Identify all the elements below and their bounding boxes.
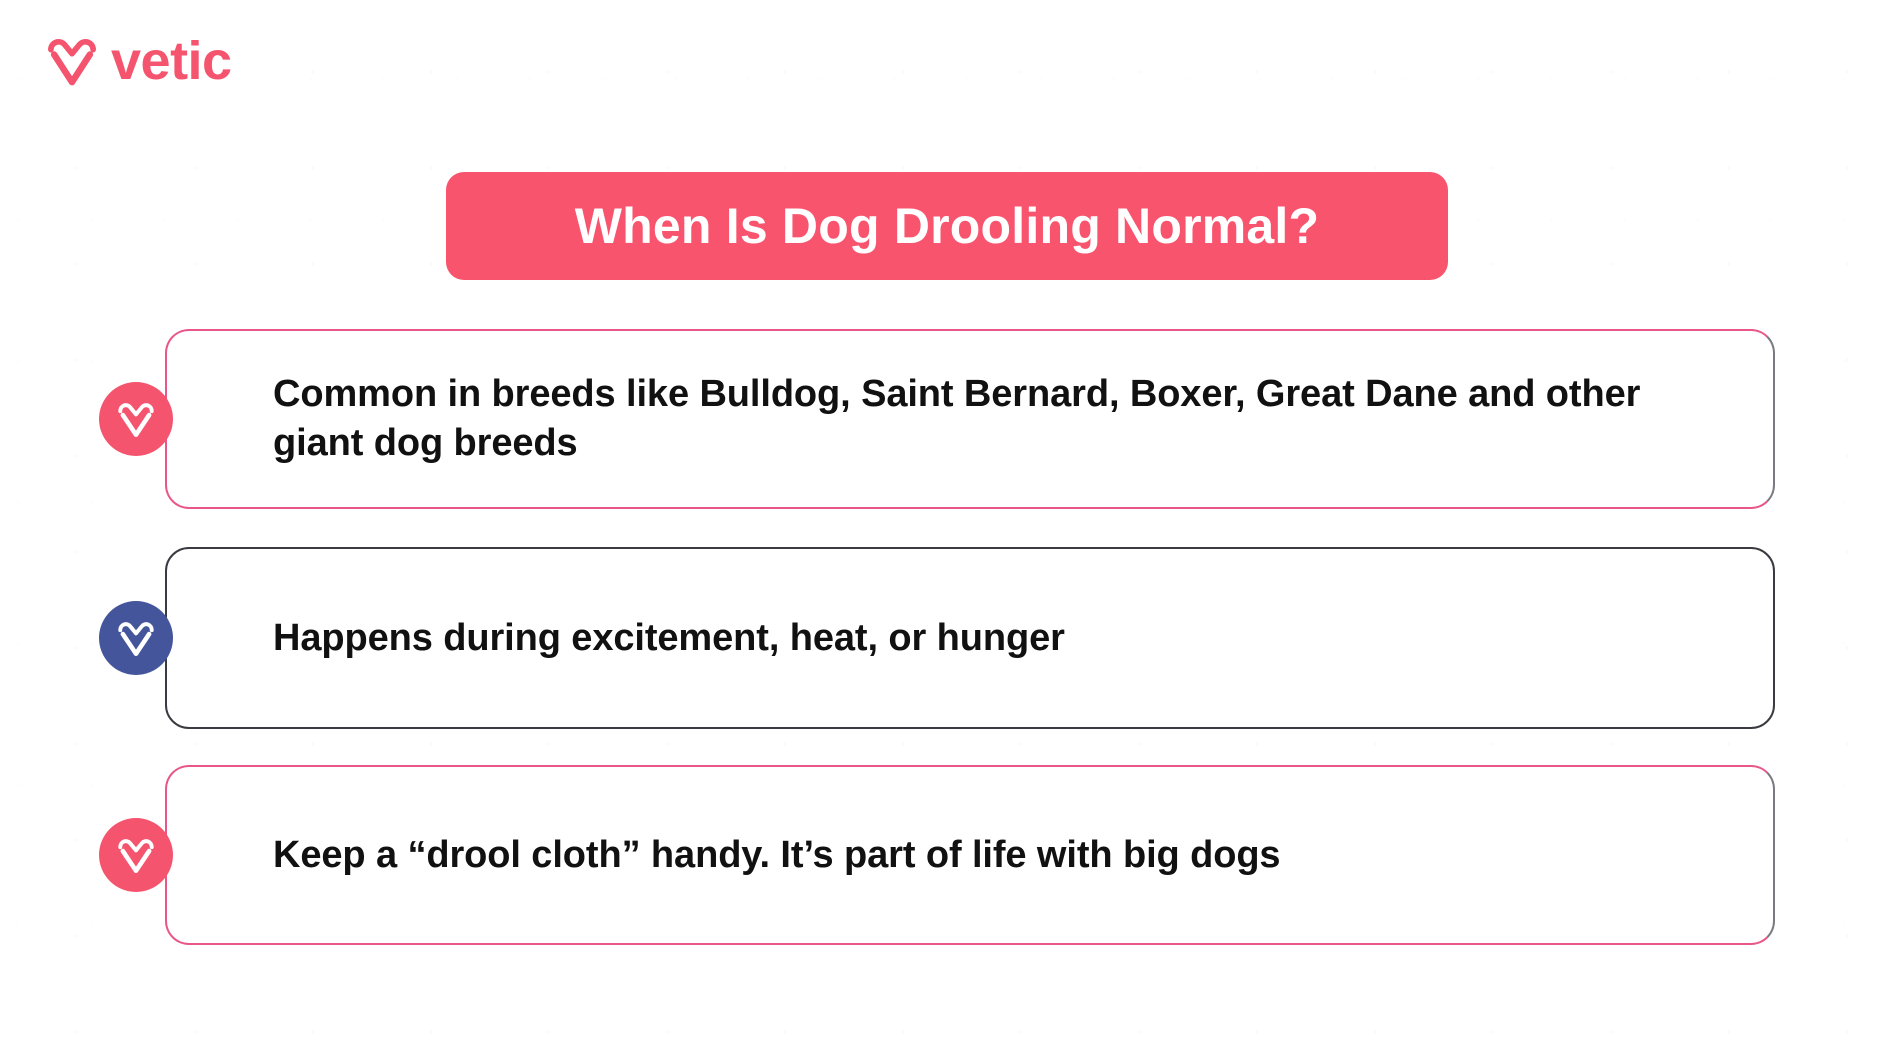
- page-title: When Is Dog Drooling Normal?: [575, 197, 1319, 255]
- page-title-banner: When Is Dog Drooling Normal?: [446, 172, 1448, 280]
- info-card: Keep a “drool cloth” handy. It’s part of…: [165, 765, 1775, 945]
- card-text: Happens during excitement, heat, or hung…: [167, 614, 1125, 663]
- vetic-heart-v-icon: [46, 35, 98, 87]
- heart-v-icon: [99, 818, 173, 892]
- card-text: Common in breeds like Bulldog, Saint Ber…: [167, 370, 1773, 467]
- heart-v-icon: [99, 382, 173, 456]
- info-card: Happens during excitement, heat, or hung…: [165, 547, 1775, 729]
- heart-v-icon: [99, 601, 173, 675]
- card-text: Keep a “drool cloth” handy. It’s part of…: [167, 831, 1340, 880]
- info-card: Common in breeds like Bulldog, Saint Ber…: [165, 329, 1775, 509]
- brand-wordmark: vetic: [111, 34, 232, 88]
- brand-logo: vetic: [46, 34, 232, 88]
